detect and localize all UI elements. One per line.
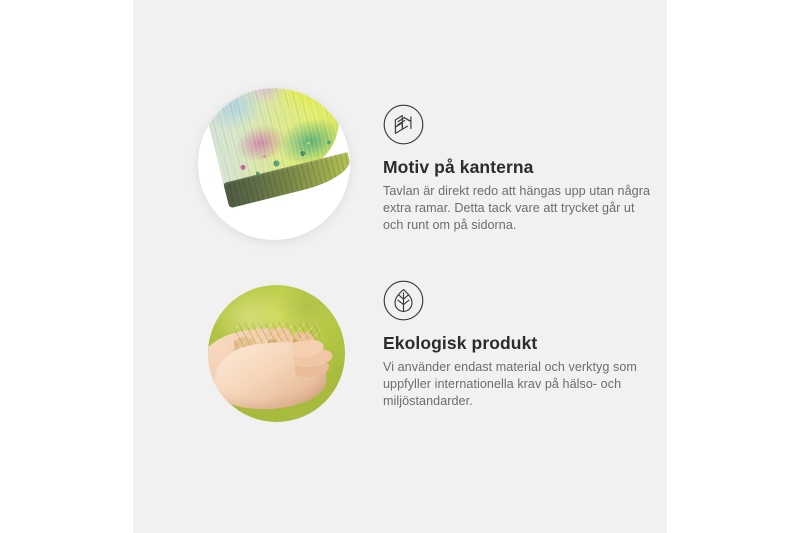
- content-panel: Motiv på kanterna Tavlan är direkt redo …: [133, 0, 667, 533]
- feature-copy-eco-product: Ekologisk produkt Vi använder endast mat…: [383, 280, 651, 411]
- canvas-photo-clip: [198, 88, 350, 240]
- canvas-print-corner: [200, 88, 350, 218]
- leaf-icon: [383, 280, 424, 321]
- feature-copy-canvas-edges: Motiv på kanterna Tavlan är direkt redo …: [383, 104, 651, 235]
- feature-block-canvas-edges: Motiv på kanterna Tavlan är direkt redo …: [133, 80, 667, 255]
- wood-chips-photo: [208, 285, 345, 422]
- canvas-edge-wrap-icon: [383, 104, 424, 145]
- canvas-corner-photo: [198, 88, 350, 240]
- feature-title: Ekologisk produkt: [383, 333, 651, 354]
- feature-description: Vi använder endast material och verktyg …: [383, 359, 651, 411]
- feature-title: Motiv på kanterna: [383, 157, 651, 178]
- fingers: [291, 336, 342, 382]
- feature-block-eco-product: Ekologisk produkt Vi använder endast mat…: [133, 272, 667, 432]
- product-info-graphic: Motiv på kanterna Tavlan är direkt redo …: [0, 0, 800, 533]
- feature-description: Tavlan är direkt redo att hängas upp uta…: [383, 183, 651, 235]
